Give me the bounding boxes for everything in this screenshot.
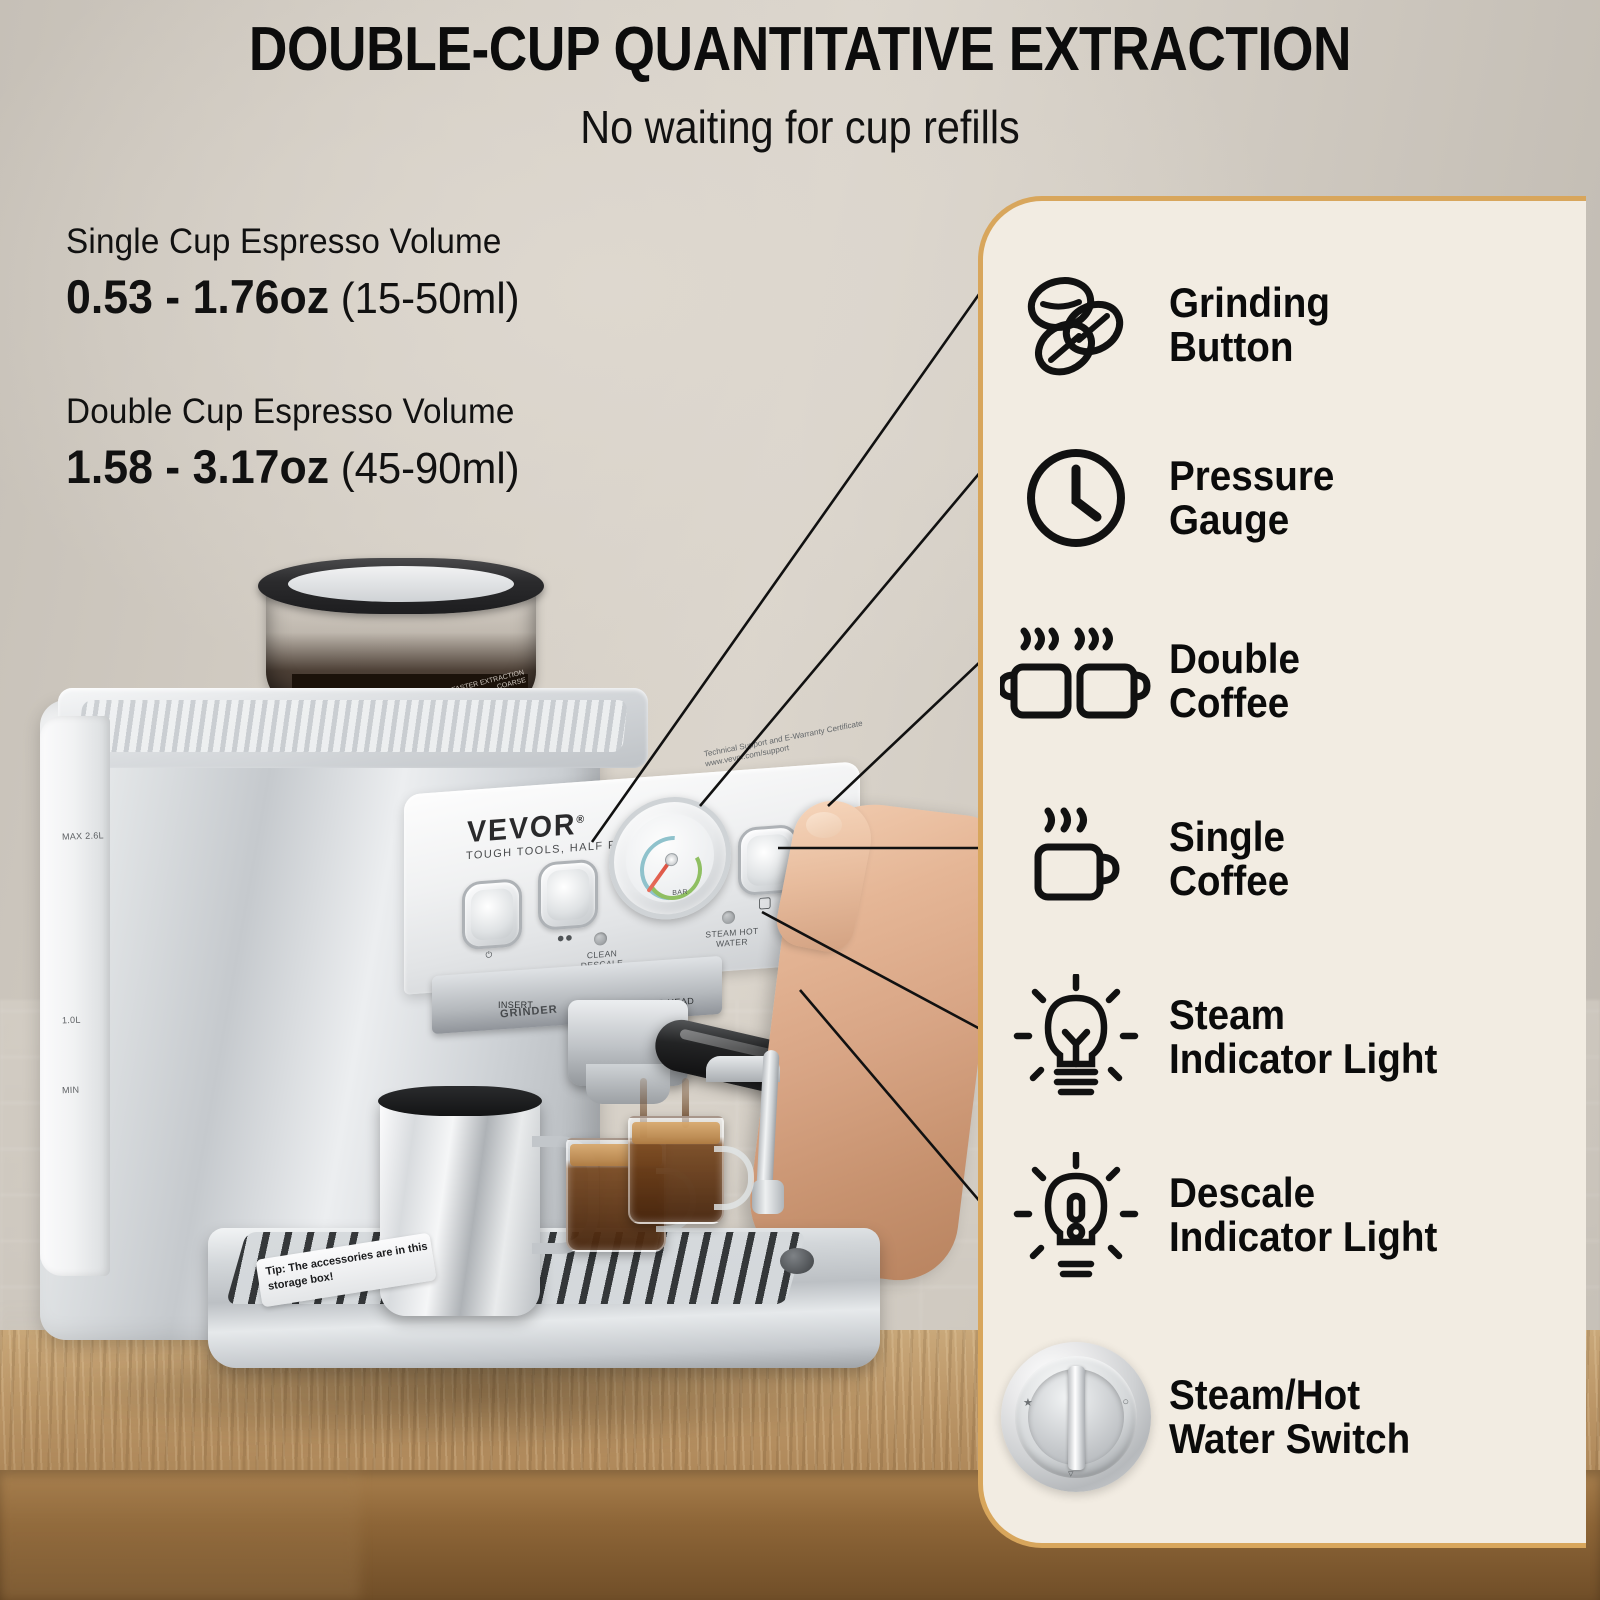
callout-steam-indicator-light[interactable]: Steam Indicator Light: [983, 957, 1591, 1117]
steam-wand-tip: [752, 1180, 784, 1214]
coffee-beans-icon: [983, 266, 1169, 384]
pressure-gauge-clock-icon: [983, 441, 1169, 555]
gauge-face: BAR: [626, 811, 714, 905]
light-bulb-alert-icon: [983, 1152, 1169, 1278]
grinding-button[interactable]: [538, 858, 598, 930]
drip-tray-indicator-hole: [780, 1248, 814, 1274]
power-icon: ⏻: [466, 949, 512, 962]
support-text: Technical Support and E-Warranty Certifi…: [703, 715, 884, 770]
callout-label: Steam/Hot Water Switch: [1169, 1373, 1410, 1460]
callout-single-coffee[interactable]: Single Coffee: [983, 779, 1591, 939]
callout-label: Grinding Button: [1169, 281, 1330, 368]
power-button[interactable]: [462, 878, 522, 950]
bean-glyph-icon: ●●: [532, 928, 598, 948]
portafilter-basket: [586, 1064, 670, 1104]
pitcher-rim: [378, 1086, 542, 1116]
dial-tick-right: ○: [1122, 1396, 1129, 1408]
callout-steam-hot-water-switch[interactable]: ★ ○ ▿ Steam/Hot Water Switch: [983, 1327, 1591, 1507]
dial-tick-left: ★: [1023, 1396, 1033, 1409]
hopper-lid[interactable]: [258, 558, 544, 614]
dial-knob[interactable]: ★ ○ ▿: [1001, 1342, 1151, 1492]
steam-hot-water-label: STEAM HOT WATER: [700, 926, 764, 950]
callout-label: Pressure Gauge: [1169, 454, 1334, 541]
dial-pointer: [1068, 1366, 1085, 1470]
infographic-stage: DOUBLE-CUP QUANTITATIVE EXTRACTION No wa…: [0, 0, 1600, 1600]
gauge-unit-label: BAR: [660, 888, 700, 899]
cup-handle-back: [714, 1146, 754, 1210]
descale-indicator-light: [594, 932, 607, 946]
tank-mark-max: MAX 2.6L: [62, 831, 104, 842]
callout-pressure-gauge[interactable]: Pressure Gauge: [983, 423, 1591, 573]
callout-label: Single Coffee: [1169, 815, 1289, 902]
callout-grinding-button[interactable]: Grinding Button: [983, 245, 1591, 405]
chrome-dial-knob-photo: ★ ○ ▿: [983, 1342, 1169, 1492]
water-tank: [40, 716, 110, 1276]
pressure-gauge: BAR: [609, 793, 731, 924]
callout-label: Double Coffee: [1169, 637, 1300, 724]
tank-mark-1l: 1.0L: [62, 1016, 81, 1027]
callout-label: Descale Indicator Light: [1169, 1171, 1437, 1258]
espresso-machine-photo: 30 25 20 FASTER EXTRACTION COARSE MAX 2.…: [0, 0, 1000, 1600]
tank-mark-min: MIN: [62, 1086, 80, 1096]
light-bulb-icon: [983, 974, 1169, 1100]
double-coffee-cups-icon: [983, 621, 1169, 741]
gauge-hub: [665, 852, 678, 866]
callout-panel: Grinding Button Pressure Gauge: [978, 196, 1586, 1548]
fingernail: [806, 812, 842, 838]
espresso-cup-back: [628, 1116, 724, 1224]
warming-plate-grill: [77, 700, 627, 752]
crema-layer: [632, 1122, 720, 1144]
callout-descale-indicator-light[interactable]: Descale Indicator Light: [983, 1135, 1591, 1295]
callout-double-coffee[interactable]: Double Coffee: [983, 601, 1591, 761]
callout-label: Steam Indicator Light: [1169, 993, 1437, 1080]
steam-indicator-light: [722, 910, 735, 924]
single-coffee-cup-icon: [983, 799, 1169, 919]
dial-tick-bottom: ▿: [1068, 1467, 1074, 1480]
